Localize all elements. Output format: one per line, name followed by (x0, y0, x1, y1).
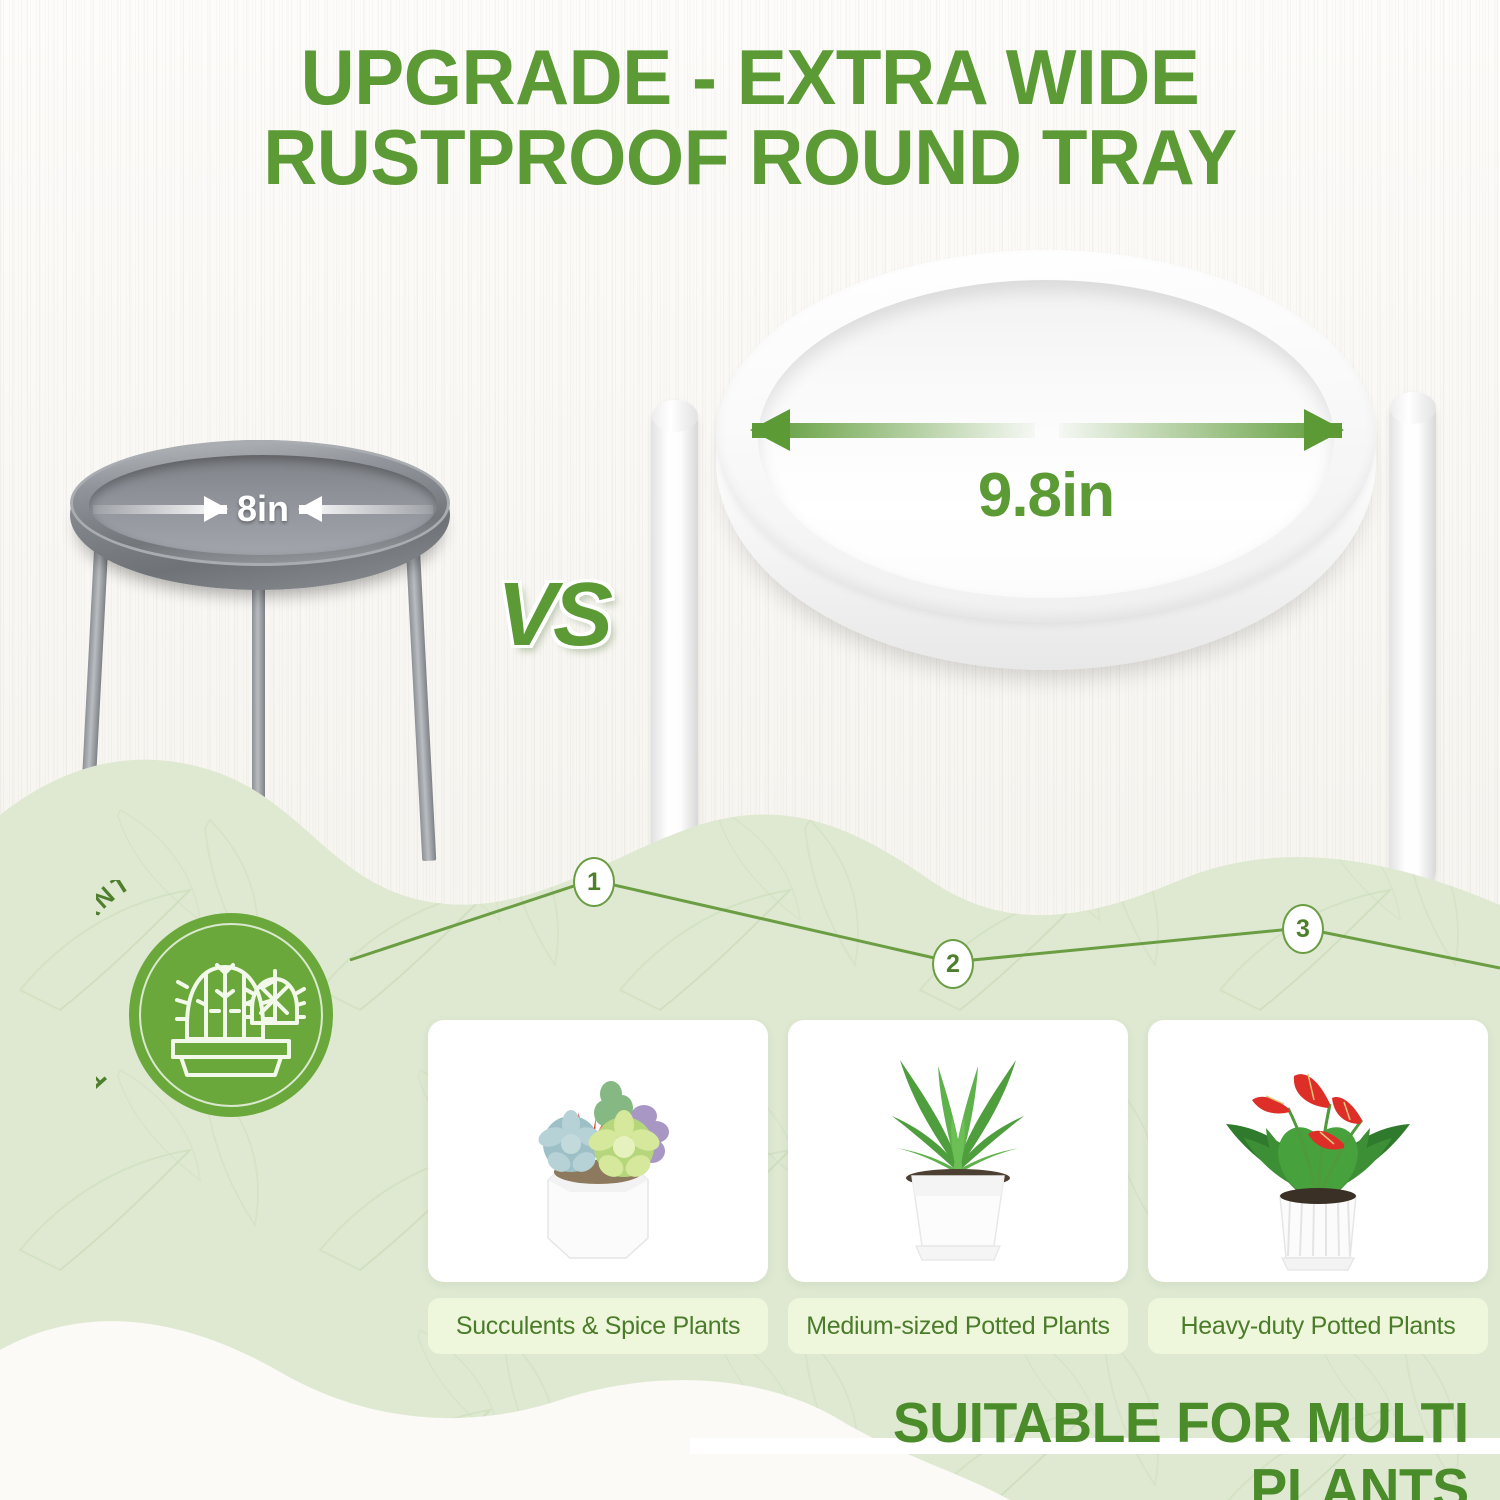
plant-card-caption: Medium-sized Potted Plants (788, 1298, 1128, 1354)
plant-card-caption: Succulents & Spice Plants (428, 1298, 768, 1354)
red-anthurium-image (1148, 1020, 1488, 1282)
plant-card[interactable] (1148, 1020, 1488, 1282)
plant-card[interactable] (428, 1020, 768, 1282)
footer-tagline: SUITABLE FOR MULTI PLANTS (666, 1390, 1491, 1500)
connector-marker-1: 1 (573, 857, 615, 907)
infographic-canvas: UPGRADE - EXTRA WIDE RUSTPROOF ROUND TRA… (0, 0, 1500, 1500)
aloe-vera-image (788, 1020, 1128, 1282)
plant-card-caption: Heavy-duty Potted Plants (1148, 1298, 1488, 1354)
plant-card[interactable] (788, 1020, 1128, 1282)
colorful-succulents-image (428, 1020, 768, 1282)
connector-marker-3: 3 (1282, 904, 1324, 954)
connector-marker-2: 2 (932, 939, 974, 989)
